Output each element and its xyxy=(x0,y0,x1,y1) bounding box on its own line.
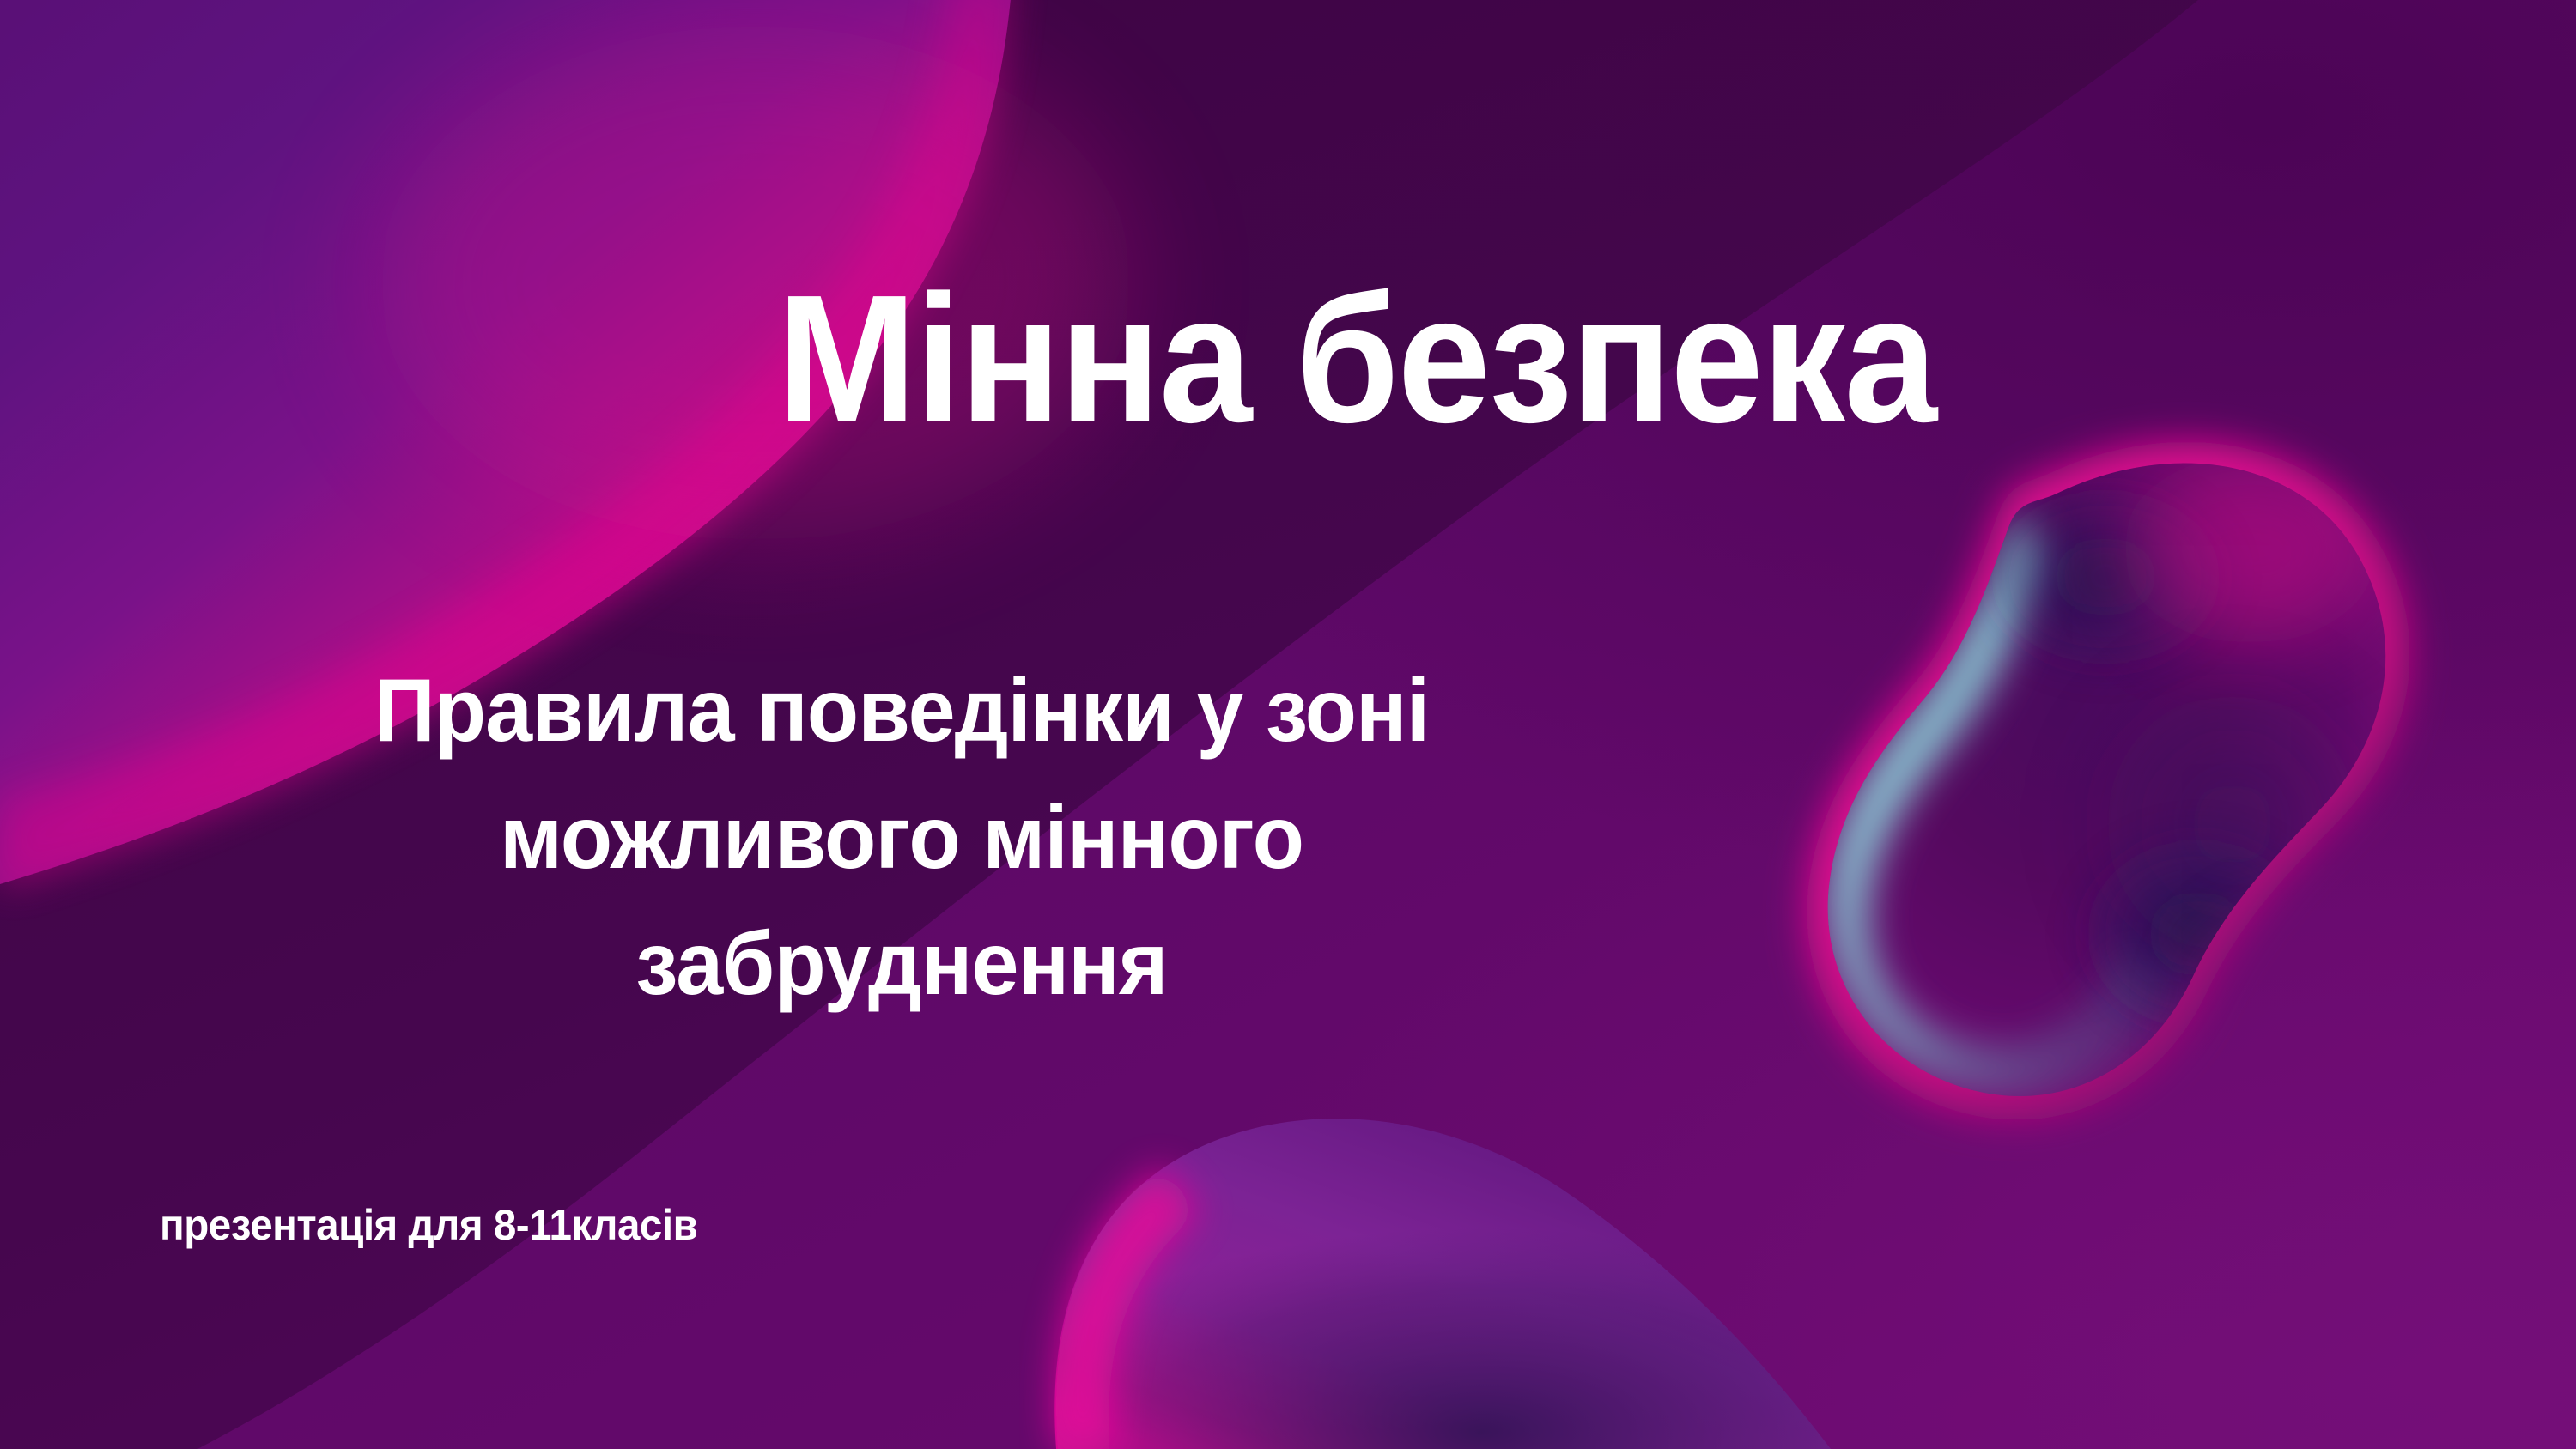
page-title: Мінна безпека xyxy=(777,268,2041,450)
slide-subtitle: Правила поведінки у зоні можливого мінно… xyxy=(192,648,1612,1028)
slide-subtitle-line-2: можливого мінного xyxy=(192,775,1612,902)
presentation-slide: Мінна безпека Правила поведінки у зоні м… xyxy=(0,0,2576,1449)
slide-caption: презентація для 8-11класів xyxy=(160,1202,697,1249)
slide-subtitle-line-3: забруднення xyxy=(192,901,1612,1028)
slide-subtitle-line-1: Правила поведінки у зоні xyxy=(192,648,1612,775)
slide-text-layer: Мінна безпека Правила поведінки у зоні м… xyxy=(0,0,2576,1449)
